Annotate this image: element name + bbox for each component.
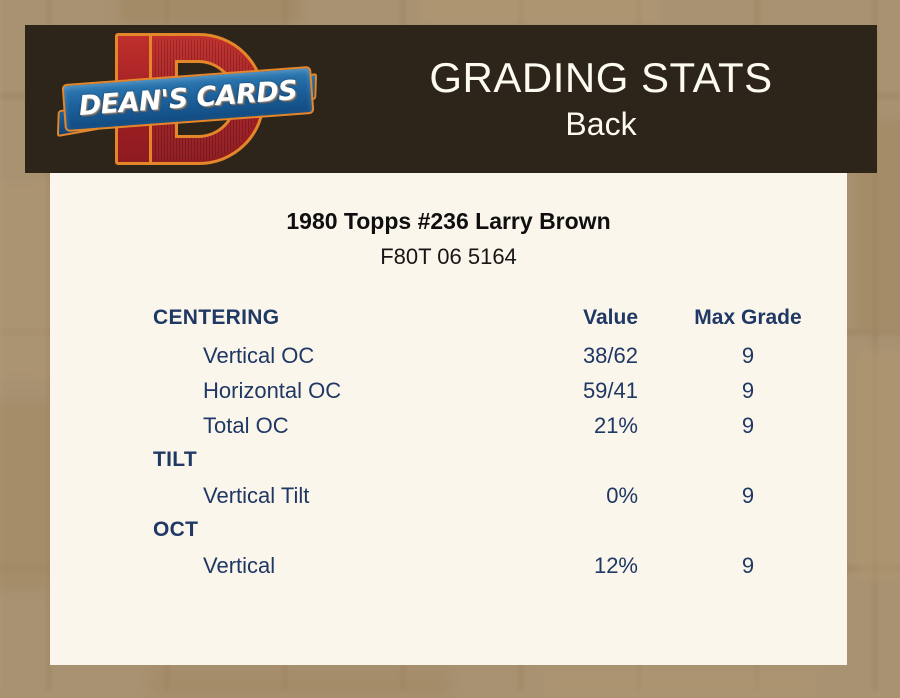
header-title-group: GRADING STATS Back	[325, 25, 877, 173]
logo-wordmark: DEAN'S CARDS	[56, 65, 321, 132]
page-title: GRADING STATS	[429, 56, 772, 100]
card-title: 1980 Topps #236 Larry Brown	[50, 208, 847, 235]
stat-label-horizontal-oc: Horizontal OC	[203, 378, 341, 404]
stat-value-vertical-tilt: 0%	[478, 483, 638, 509]
stat-grade-horizontal-oc: 9	[663, 378, 833, 404]
column-header-value: Value	[478, 306, 638, 330]
background-card-blob	[120, 0, 300, 24]
header-bar: DEAN'S CARDS GRADING STATS Back	[25, 25, 877, 173]
table-row-horizontal-oc: Horizontal OC 59/41 9	[153, 378, 847, 413]
table-row-centering-header: CENTERING Value Max Grade	[153, 306, 847, 343]
stat-value-total-oc: 21%	[478, 413, 638, 439]
stat-grade-total-oc: 9	[663, 413, 833, 439]
stat-label-vertical-oc: Vertical OC	[203, 343, 314, 369]
stats-sheet: 1980 Topps #236 Larry Brown F80T 06 5164…	[50, 173, 847, 665]
table-row-vertical-oc: Vertical OC 38/62 9	[153, 343, 847, 378]
section-label-tilt: TILT	[153, 448, 197, 472]
background-card-blob	[540, 666, 820, 698]
deans-cards-logo: DEAN'S CARDS	[53, 27, 323, 173]
background-card-blob	[420, 0, 660, 24]
background-card-blob	[0, 180, 52, 380]
page-subtitle: Back	[565, 108, 636, 142]
stat-label-vertical: Vertical	[203, 553, 275, 579]
table-row-vertical: Vertical 12% 9	[153, 553, 847, 588]
stat-value-vertical: 12%	[478, 553, 638, 579]
background-card-blob	[856, 350, 900, 580]
stat-grade-vertical-oc: 9	[663, 343, 833, 369]
background-card-blob	[150, 668, 450, 698]
section-label-centering: CENTERING	[153, 306, 279, 330]
table-row-oct-header: OCT	[153, 518, 847, 553]
column-header-max-grade: Max Grade	[663, 306, 833, 330]
grading-stats-table: CENTERING Value Max Grade Vertical OC 38…	[153, 306, 847, 588]
stat-grade-vertical-tilt: 9	[663, 483, 833, 509]
section-label-oct: OCT	[153, 518, 198, 542]
table-row-total-oc: Total OC 21% 9	[153, 413, 847, 448]
stat-label-total-oc: Total OC	[203, 413, 289, 439]
table-row-tilt-header: TILT	[153, 448, 847, 483]
stat-grade-vertical: 9	[663, 553, 833, 579]
table-row-vertical-tilt: Vertical Tilt 0% 9	[153, 483, 847, 518]
card-serial-number: F80T 06 5164	[50, 244, 847, 270]
stat-value-vertical-oc: 38/62	[478, 343, 638, 369]
logo-ribbon-banner: DEAN'S CARDS	[57, 71, 319, 133]
stat-value-horizontal-oc: 59/41	[478, 378, 638, 404]
stat-label-vertical-tilt: Vertical Tilt	[203, 483, 309, 509]
